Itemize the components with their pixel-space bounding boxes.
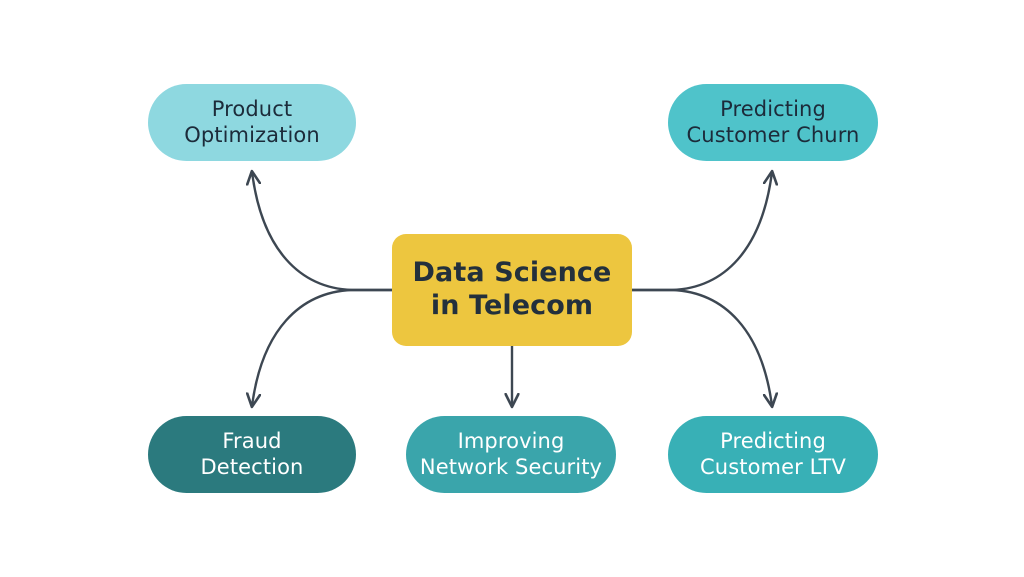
node-label: Predicting Customer LTV <box>700 429 846 480</box>
node-label: Predicting Customer Churn <box>687 97 860 148</box>
node-improving-network-security[interactable]: Improving Network Security <box>406 416 616 493</box>
connector-center-to-predicting-customer-ltv <box>632 290 772 406</box>
connector-center-to-fraud-detection <box>252 290 392 406</box>
node-predicting-customer-churn[interactable]: Predicting Customer Churn <box>668 84 878 161</box>
node-product-optimization[interactable]: Product Optimization <box>148 84 356 161</box>
node-predicting-customer-ltv[interactable]: Predicting Customer LTV <box>668 416 878 493</box>
node-label: Fraud Detection <box>201 429 304 480</box>
connector-center-to-predicting-customer-churn <box>632 172 772 290</box>
connector-center-to-product-optimization <box>252 172 392 290</box>
diagram-canvas: Data Science in Telecom Product Optimiza… <box>0 0 1024 577</box>
node-label: Improving Network Security <box>420 429 602 480</box>
node-data-science-in-telecom[interactable]: Data Science in Telecom <box>392 234 632 346</box>
node-fraud-detection[interactable]: Fraud Detection <box>148 416 356 493</box>
node-label: Product Optimization <box>184 97 320 148</box>
node-label: Data Science in Telecom <box>413 257 612 323</box>
